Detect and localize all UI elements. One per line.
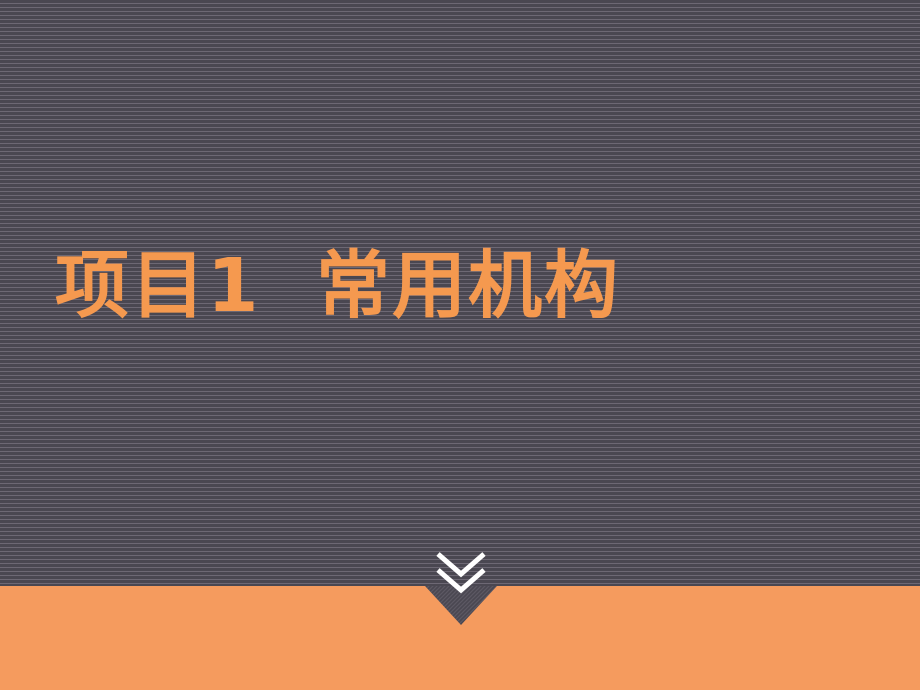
slide-ornament [415, 544, 507, 634]
slide-title: 项目1 常用机构 [55, 240, 620, 332]
presentation-slide: 项目1 常用机构 [0, 0, 920, 690]
chevron-down-icon-1 [438, 554, 484, 574]
